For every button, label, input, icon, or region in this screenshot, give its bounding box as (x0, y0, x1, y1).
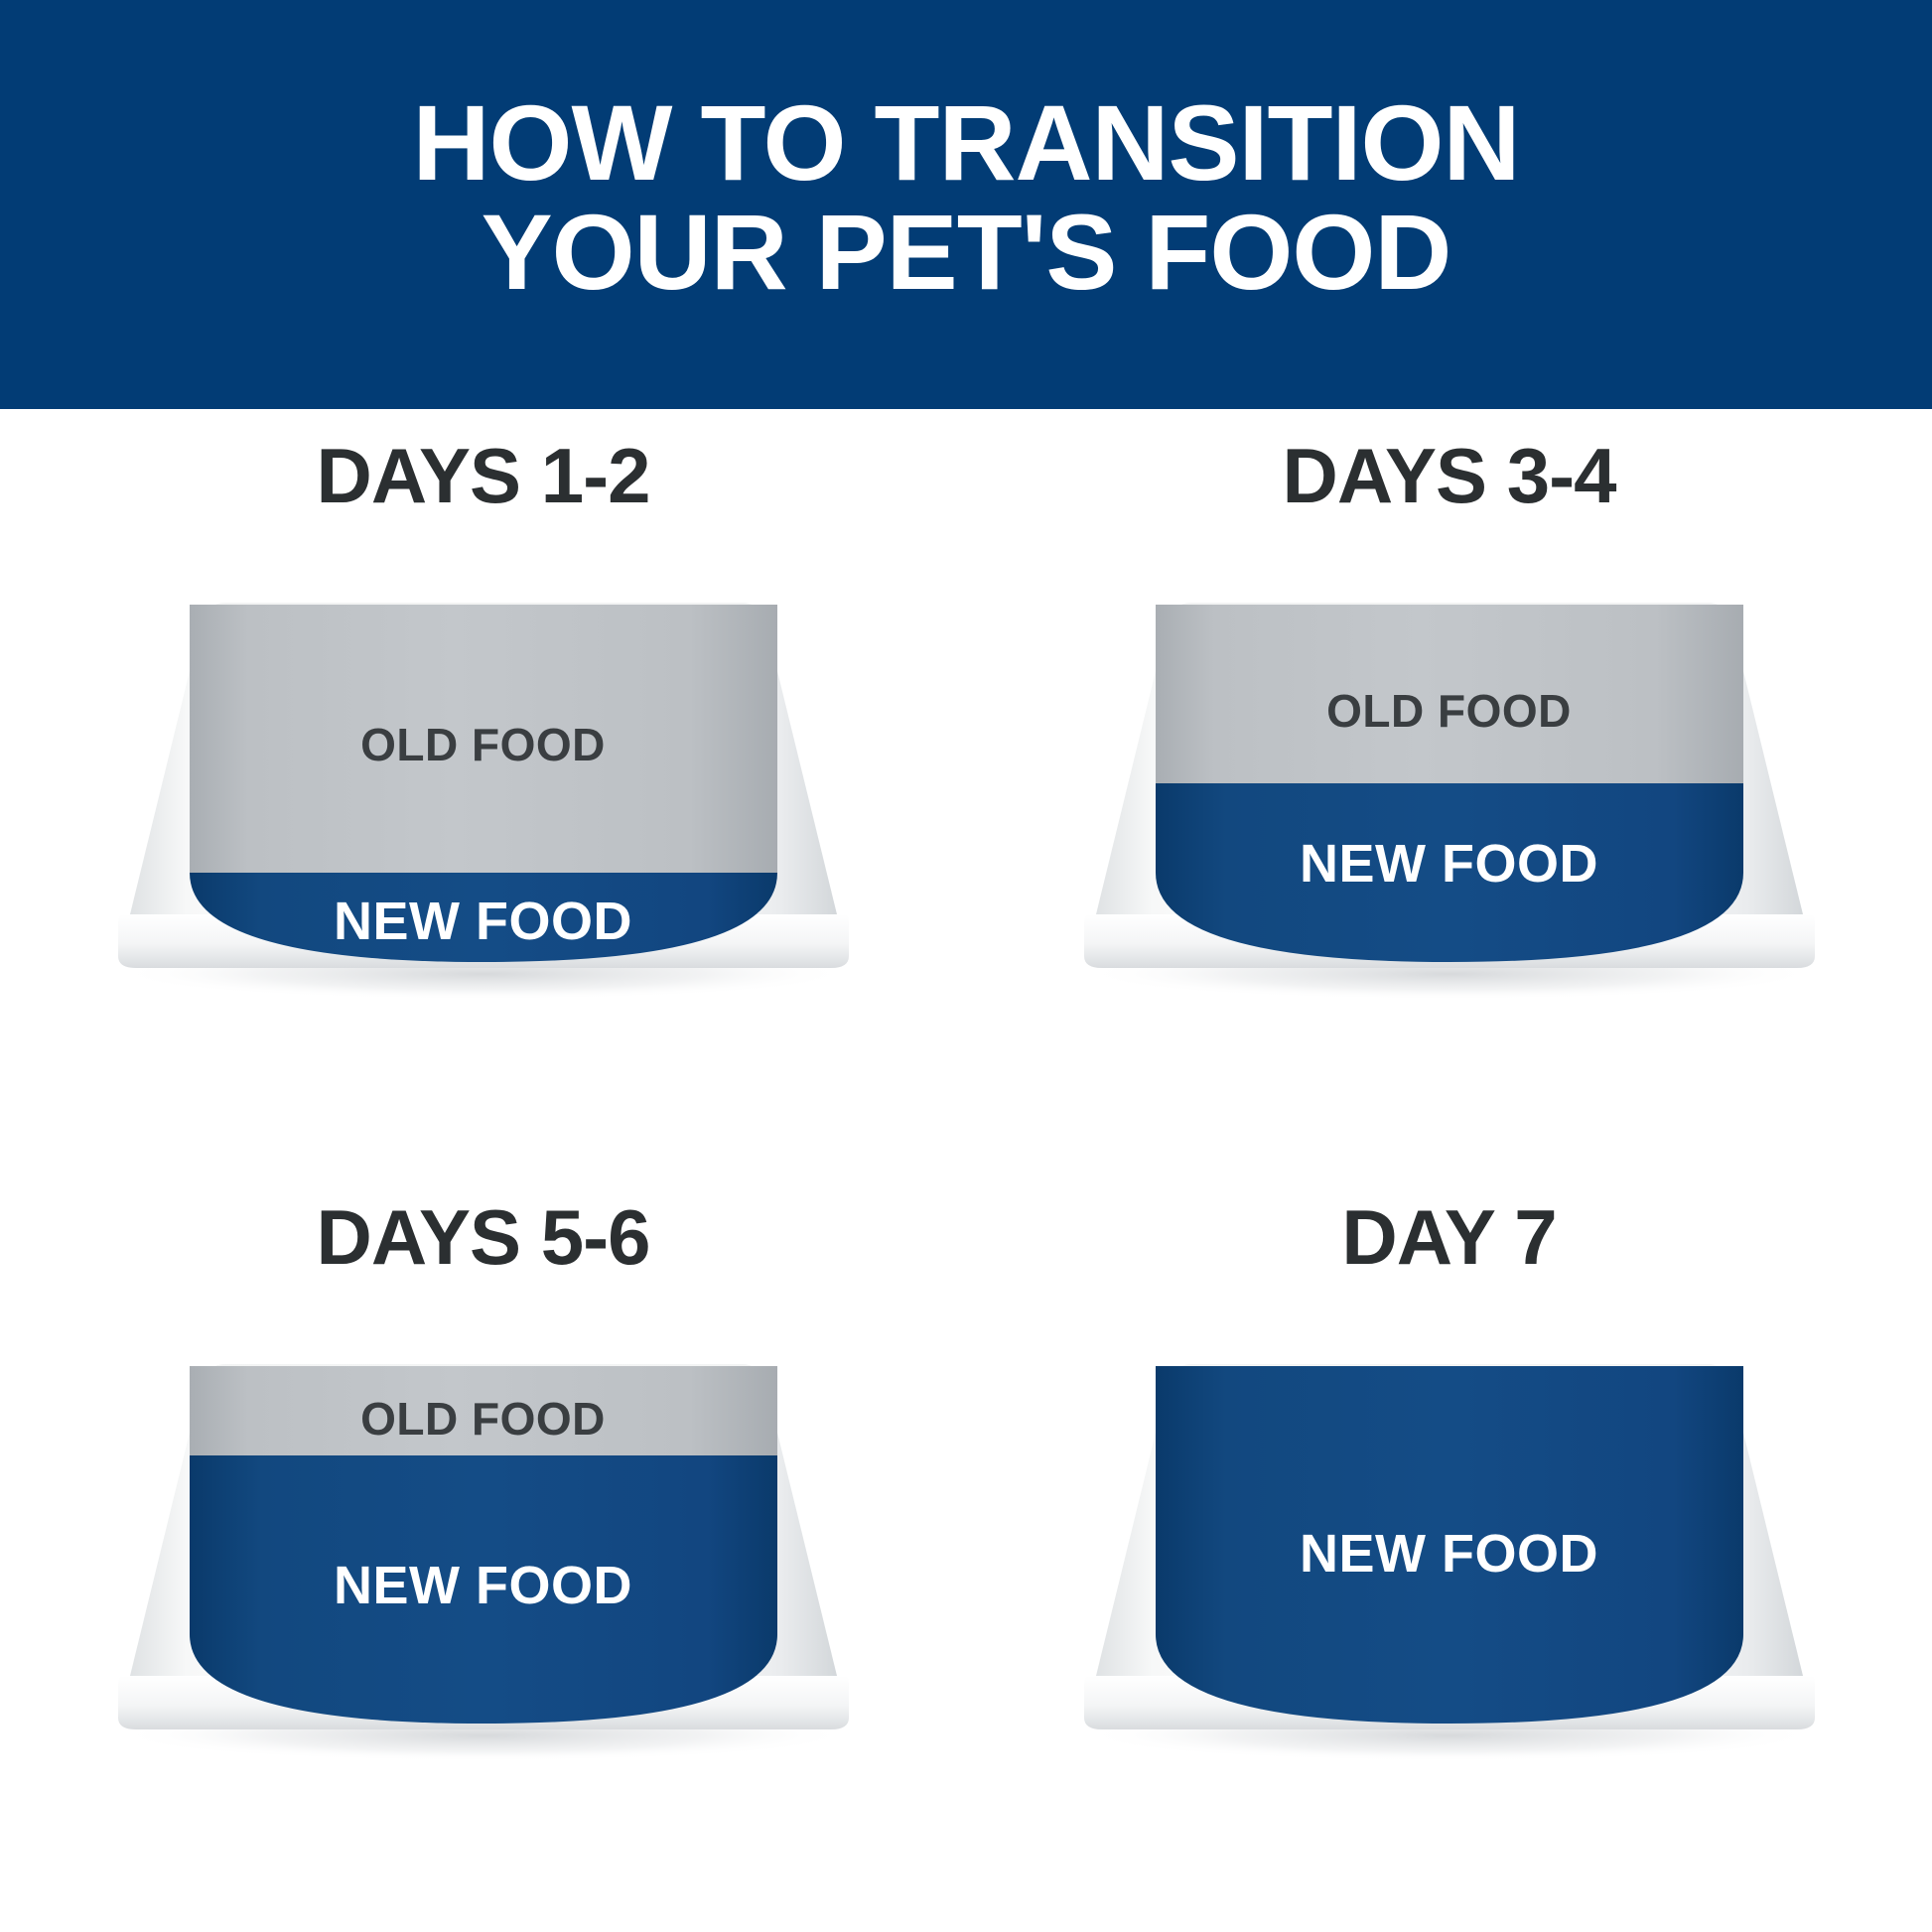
step-days-3-4: DAYS 3-4 OLD FOOD NEW FOOD (966, 409, 1932, 1171)
food-bowl-days-1-2: OLD FOOD NEW FOOD (57, 545, 910, 1012)
bowl-illustration (1023, 1307, 1876, 1773)
food-bowl-day-7: NEW FOOD (1023, 1307, 1876, 1773)
bowl-illustration (57, 545, 910, 1012)
transition-steps-grid: DAYS 1-2 (0, 409, 1932, 1932)
step-days-5-6: DAYS 5-6 OLD FOOD NEW FOOD (0, 1171, 966, 1932)
step-label-day-7: DAY 7 (1341, 1192, 1556, 1283)
step-label-days-1-2: DAYS 1-2 (317, 431, 650, 521)
food-bowl-days-5-6: OLD FOOD NEW FOOD (57, 1307, 910, 1773)
step-label-days-5-6: DAYS 5-6 (317, 1192, 650, 1283)
step-days-1-2: DAYS 1-2 (0, 409, 966, 1171)
bowl-illustration (57, 1307, 910, 1773)
step-label-days-3-4: DAYS 3-4 (1283, 431, 1616, 521)
page-title: HOW TO TRANSITION YOUR PET'S FOOD (413, 88, 1520, 307)
step-day-7: DAY 7 NEW FOOD (966, 1171, 1932, 1932)
bowl-illustration (1023, 545, 1876, 1012)
food-bowl-days-3-4: OLD FOOD NEW FOOD (1023, 545, 1876, 1012)
header-banner: HOW TO TRANSITION YOUR PET'S FOOD (0, 0, 1932, 409)
